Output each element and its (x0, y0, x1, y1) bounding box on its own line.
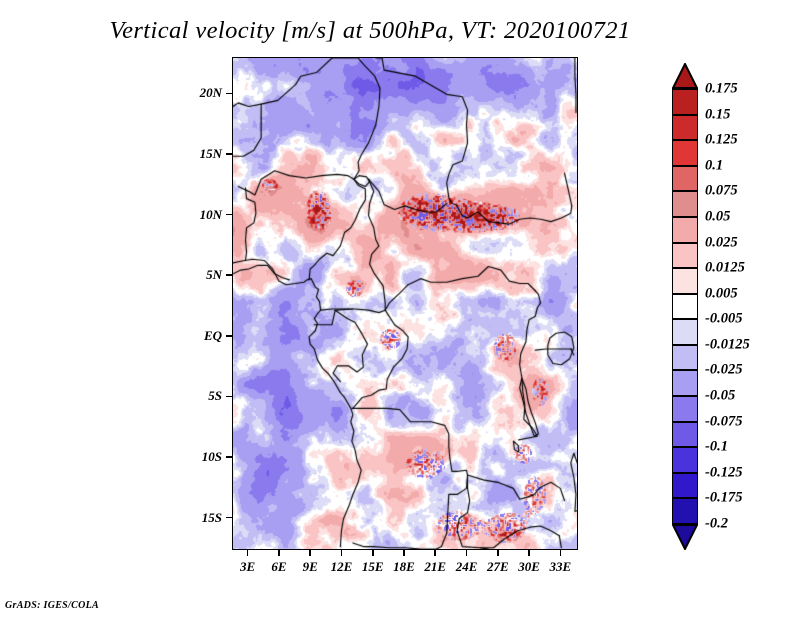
longitude-tick-label: 27E (487, 559, 509, 575)
colorbar-tick-label: 0.1 (705, 157, 723, 174)
longitude-tick-label: 9E (303, 559, 318, 575)
colorbar-segment[interactable] (672, 422, 698, 448)
latitude-tick (226, 517, 232, 519)
longitude-tick (278, 550, 280, 556)
longitude-tick-label: 24E (456, 559, 478, 575)
colorbar-segment[interactable] (672, 191, 698, 217)
footer-credit: GrADS: IGES/COLA (5, 600, 99, 611)
page-title: Vertical velocity [m/s] at 500hPa, VT: 2… (0, 17, 740, 45)
colorbar-segment[interactable] (672, 268, 698, 294)
colorbar-segment[interactable] (672, 447, 698, 473)
longitude-tick-label: 15E (362, 559, 384, 575)
colorbar-segment[interactable] (672, 166, 698, 192)
colorbar-segment[interactable] (672, 396, 698, 422)
latitude-tick (226, 396, 232, 398)
latitude-tick (226, 153, 232, 155)
longitude-tick-label: 18E (393, 559, 415, 575)
longitude-tick-label: 12E (331, 559, 353, 575)
colorbar-tick-label: -0.05 (705, 388, 735, 405)
colorbar-tick-label: 0.15 (705, 106, 730, 123)
longitude-tick (247, 550, 249, 556)
latitude-tick (226, 214, 232, 216)
latitude-tick-label: 15N (180, 146, 222, 162)
longitude-tick (403, 550, 405, 556)
longitude-tick-label: 6E (271, 559, 286, 575)
latitude-tick-label: 10S (180, 449, 222, 465)
latitude-tick-label: 5N (180, 267, 222, 283)
colorbar-tick-label: 0.075 (705, 183, 738, 200)
colorbar-tick-label: -0.0125 (705, 336, 750, 353)
colorbar-segment[interactable] (672, 89, 698, 115)
colorbar-legend[interactable]: 0.1750.150.1250.10.0750.050.0250.01250.0… (672, 63, 698, 550)
longitude-tick (466, 550, 468, 556)
colorbar-segment[interactable] (672, 243, 698, 269)
colorbar-tick-label: 0.125 (705, 132, 738, 149)
colorbar-tick-label: -0.125 (705, 464, 742, 481)
colorbar-tick-label: -0.025 (705, 362, 742, 379)
longitude-tick (309, 550, 311, 556)
longitude-tick (434, 550, 436, 556)
colorbar-tick-label: -0.005 (705, 311, 742, 328)
longitude-tick-label: 3E (240, 559, 255, 575)
colorbar-bottom-arrow (672, 524, 698, 550)
longitude-tick (372, 550, 374, 556)
colorbar-segment[interactable] (672, 140, 698, 166)
colorbar-tick-label: 0.025 (705, 234, 738, 251)
longitude-tick (528, 550, 530, 556)
colorbar-segment[interactable] (672, 319, 698, 345)
map-plot-area[interactable] (232, 57, 578, 550)
latitude-tick (226, 93, 232, 95)
longitude-tick-label: 33E (550, 559, 572, 575)
latitude-tick-label: 20N (180, 85, 222, 101)
colorbar-tick-label: -0.075 (705, 413, 742, 430)
colorbar-tick-label: -0.2 (705, 516, 728, 533)
colorbar-tick-label: 0.0125 (705, 260, 745, 277)
colorbar-top-arrow (672, 63, 698, 89)
colorbar-segment[interactable] (672, 294, 698, 320)
colorbar-segment[interactable] (672, 217, 698, 243)
colorbar-tick-label: 0.005 (705, 285, 738, 302)
colorbar-tick-label: -0.1 (705, 439, 728, 456)
latitude-tick (226, 274, 232, 276)
latitude-tick (226, 456, 232, 458)
colorbar-segment[interactable] (672, 345, 698, 371)
latitude-tick (226, 335, 232, 337)
colorbar-tick-label: 0.05 (705, 208, 730, 225)
coastline-border-overlay (233, 58, 577, 549)
longitude-tick-label: 21E (424, 559, 446, 575)
colorbar-tick-label: -0.175 (705, 490, 742, 507)
latitude-tick-label: 15S (180, 510, 222, 526)
latitude-tick-label: 10N (180, 207, 222, 223)
latitude-tick-label: EQ (180, 328, 222, 344)
colorbar-segment[interactable] (672, 370, 698, 396)
colorbar-segment[interactable] (672, 498, 698, 524)
longitude-tick (341, 550, 343, 556)
colorbar-segment[interactable] (672, 115, 698, 141)
latitude-tick-label: 5S (180, 388, 222, 404)
colorbar-tick-label: 0.175 (705, 81, 738, 98)
longitude-tick-label: 30E (518, 559, 540, 575)
colorbar-segment[interactable] (672, 473, 698, 499)
longitude-tick (560, 550, 562, 556)
longitude-tick (497, 550, 499, 556)
